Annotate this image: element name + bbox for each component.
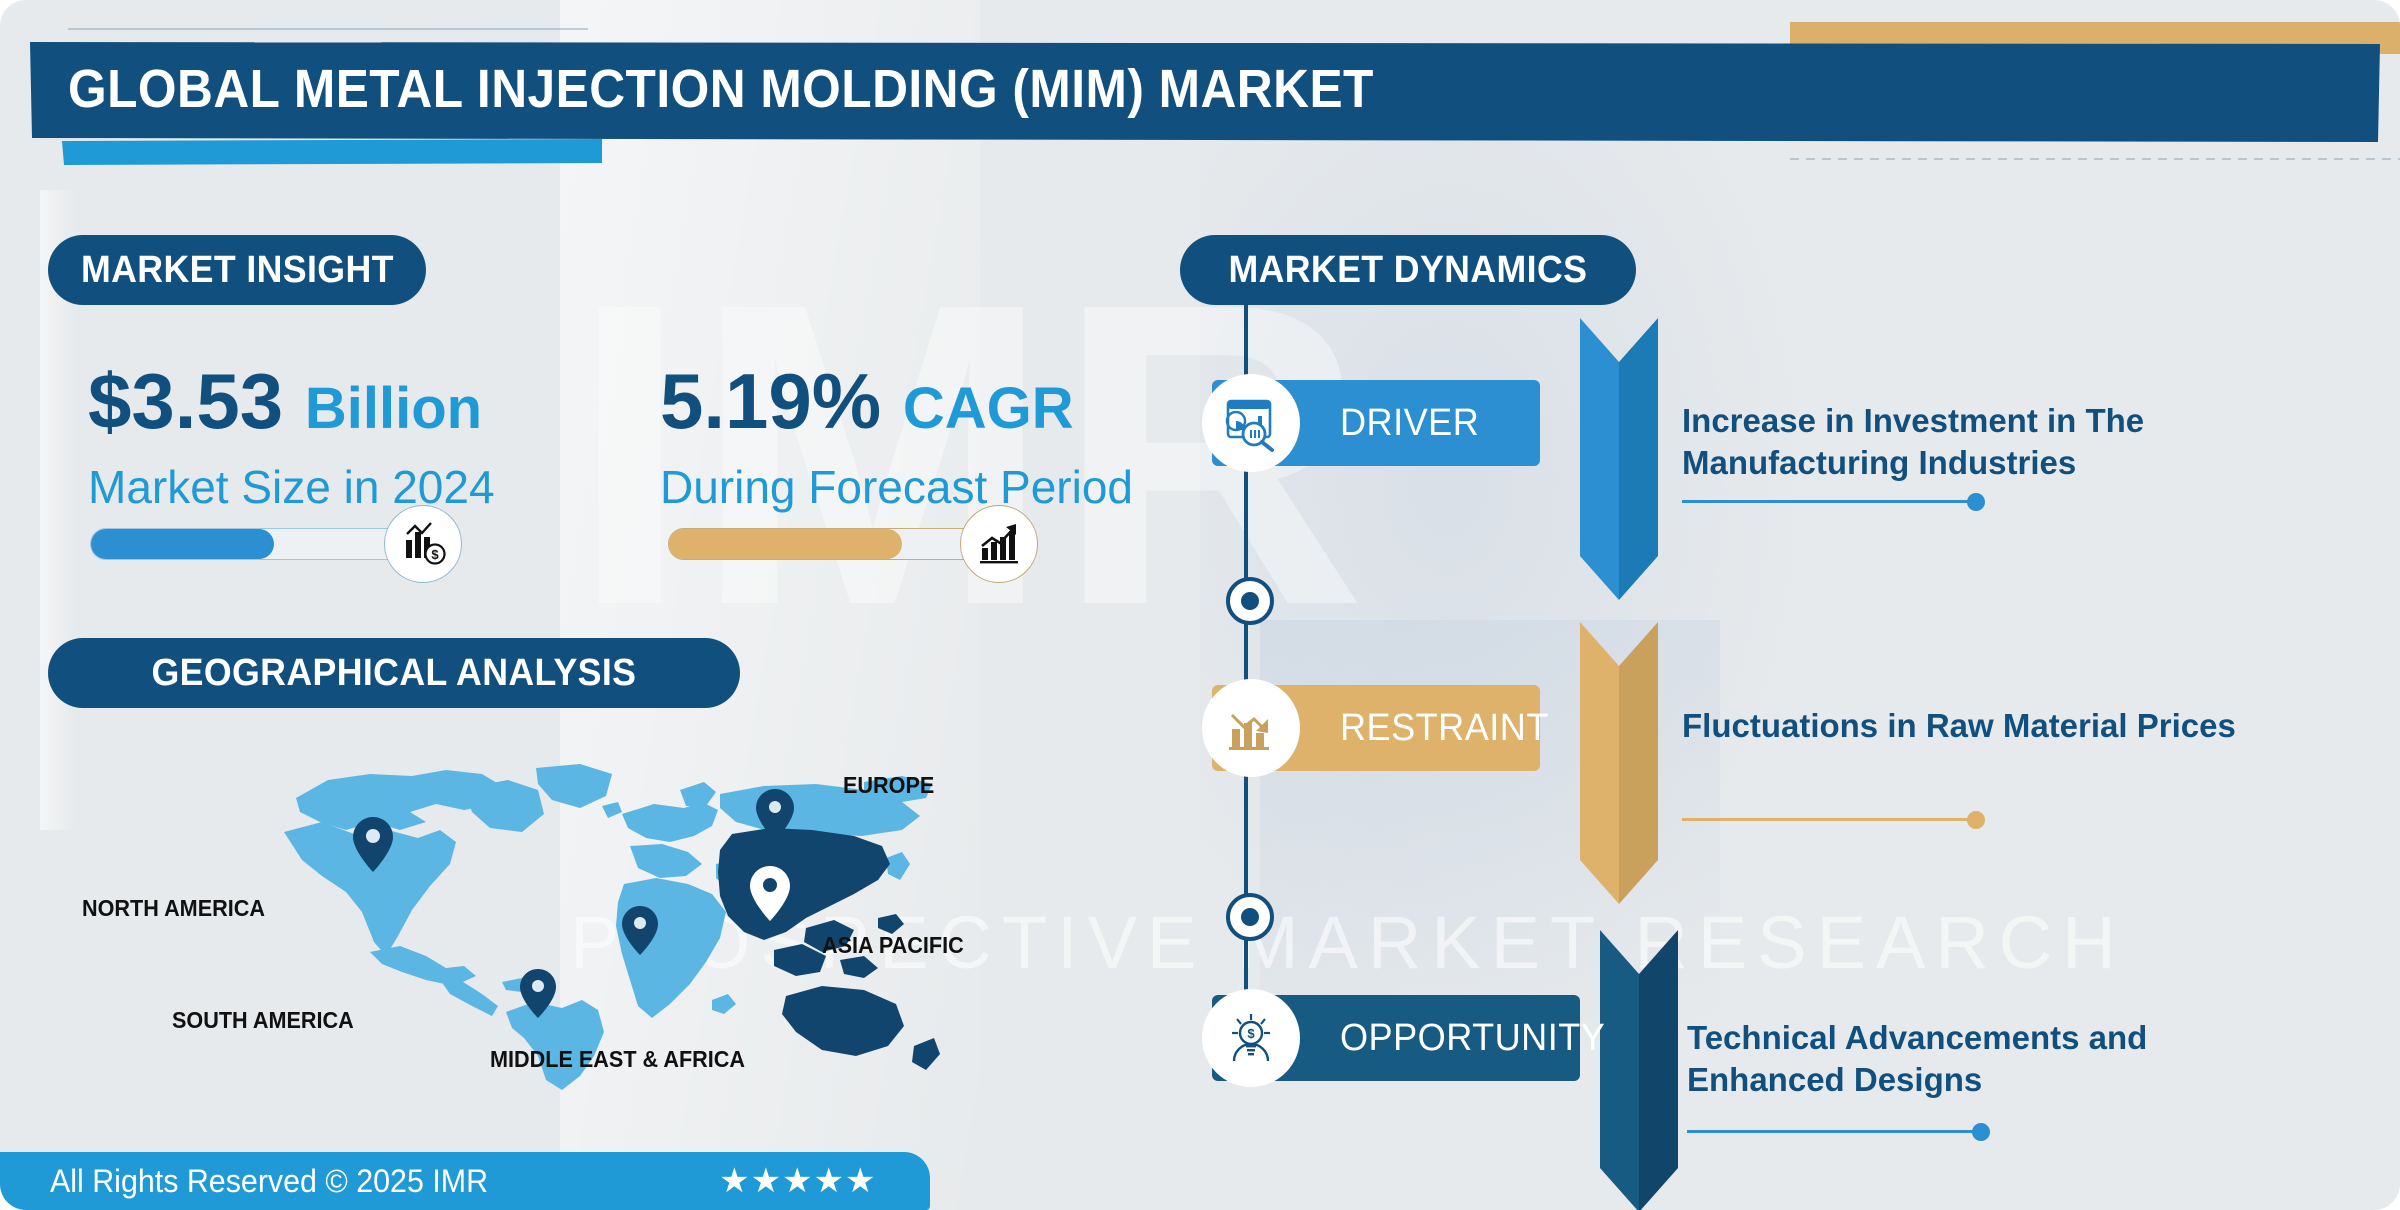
bar-chart-dollar-icon: $ (384, 505, 462, 583)
restraint-label: RESTRAINT (1340, 707, 1549, 750)
rating-stars-icon: ★★★★★ (719, 1161, 876, 1201)
page-title: GLOBAL METAL INJECTION MOLDING (MIM) MAR… (68, 58, 2000, 120)
report-search-icon (1202, 374, 1300, 472)
map-label-south-america: SOUTH AMERICA (172, 1007, 354, 1034)
section-heading-geographical-analysis: GEOGRAPHICAL ANALYSIS (48, 638, 740, 708)
opportunity-underline (1687, 1130, 1981, 1133)
driver-description: Increase in Investment in The Manufactur… (1682, 400, 2242, 484)
header-cyan-accent-bar (62, 139, 602, 165)
section-heading-market-dynamics: MARKET DYNAMICS (1180, 235, 1636, 305)
footer-bar: All Rights Reserved © 2025 IMR ★★★★★ (0, 1152, 930, 1210)
market-size-value: $3.53 (88, 357, 283, 445)
driver-label: DRIVER (1340, 402, 1479, 445)
geographical-analysis-label: GEOGRAPHICAL ANALYSIS (152, 652, 637, 695)
lightbulb-dollar-icon: $ (1202, 989, 1300, 1087)
copyright-text: All Rights Reserved © 2025 IMR (50, 1163, 488, 1200)
svg-text:$: $ (431, 547, 439, 562)
restraint-underline (1682, 818, 1976, 821)
cagr-unit: CAGR (903, 376, 1074, 441)
map-label-europe: EUROPE (843, 772, 934, 799)
driver-underline (1682, 500, 1976, 503)
infographic-canvas: IMR PROSPECTIVE MARKET RESEARCH GLOBAL M… (0, 0, 2400, 1210)
market-size-value-row: $3.53 Billion (88, 362, 495, 440)
ribbon-restraint (1580, 622, 1658, 904)
cagr-progress-bar (668, 528, 990, 560)
map-label-middle-east-africa: MIDDLE EAST & AFRICA (490, 1046, 745, 1073)
svg-text:$: $ (1247, 1026, 1255, 1041)
cagr-progress-fill (669, 529, 902, 559)
restraint-description: Fluctuations in Raw Material Prices (1682, 705, 2242, 747)
market-size-progress-bar (90, 528, 412, 560)
world-map (250, 760, 940, 1090)
ribbon-opportunity (1600, 930, 1678, 1210)
declining-bar-chart-icon (1202, 679, 1300, 777)
stat-cagr: 5.19% CAGR During Forecast Period (660, 362, 1133, 514)
opportunity-label: OPPORTUNITY (1340, 1017, 1605, 1060)
market-size-progress-fill (91, 529, 274, 559)
cagr-caption: During Forecast Period (660, 460, 1133, 514)
ribbon-driver (1580, 318, 1658, 600)
market-size-unit: Billion (305, 376, 482, 441)
timeline-node-2 (1226, 893, 1274, 941)
map-label-north-america: NORTH AMERICA (82, 895, 265, 922)
market-dynamics-label: MARKET DYNAMICS (1229, 249, 1588, 292)
timeline-node-1 (1226, 577, 1274, 625)
section-heading-market-insight: MARKET INSIGHT (48, 235, 426, 305)
header-thin-rule (68, 28, 588, 30)
stat-market-size: $3.53 Billion Market Size in 2024 (88, 362, 495, 514)
cagr-value: 5.19% (660, 357, 881, 445)
map-label-asia-pacific: ASIA PACIFIC (822, 932, 964, 959)
opportunity-description: Technical Advancements and Enhanced Desi… (1687, 1017, 2247, 1101)
header-dashed-rule (1790, 158, 2400, 160)
cagr-value-row: 5.19% CAGR (660, 362, 1133, 440)
growth-chart-arrow-icon (960, 505, 1038, 583)
market-insight-label: MARKET INSIGHT (81, 249, 394, 292)
